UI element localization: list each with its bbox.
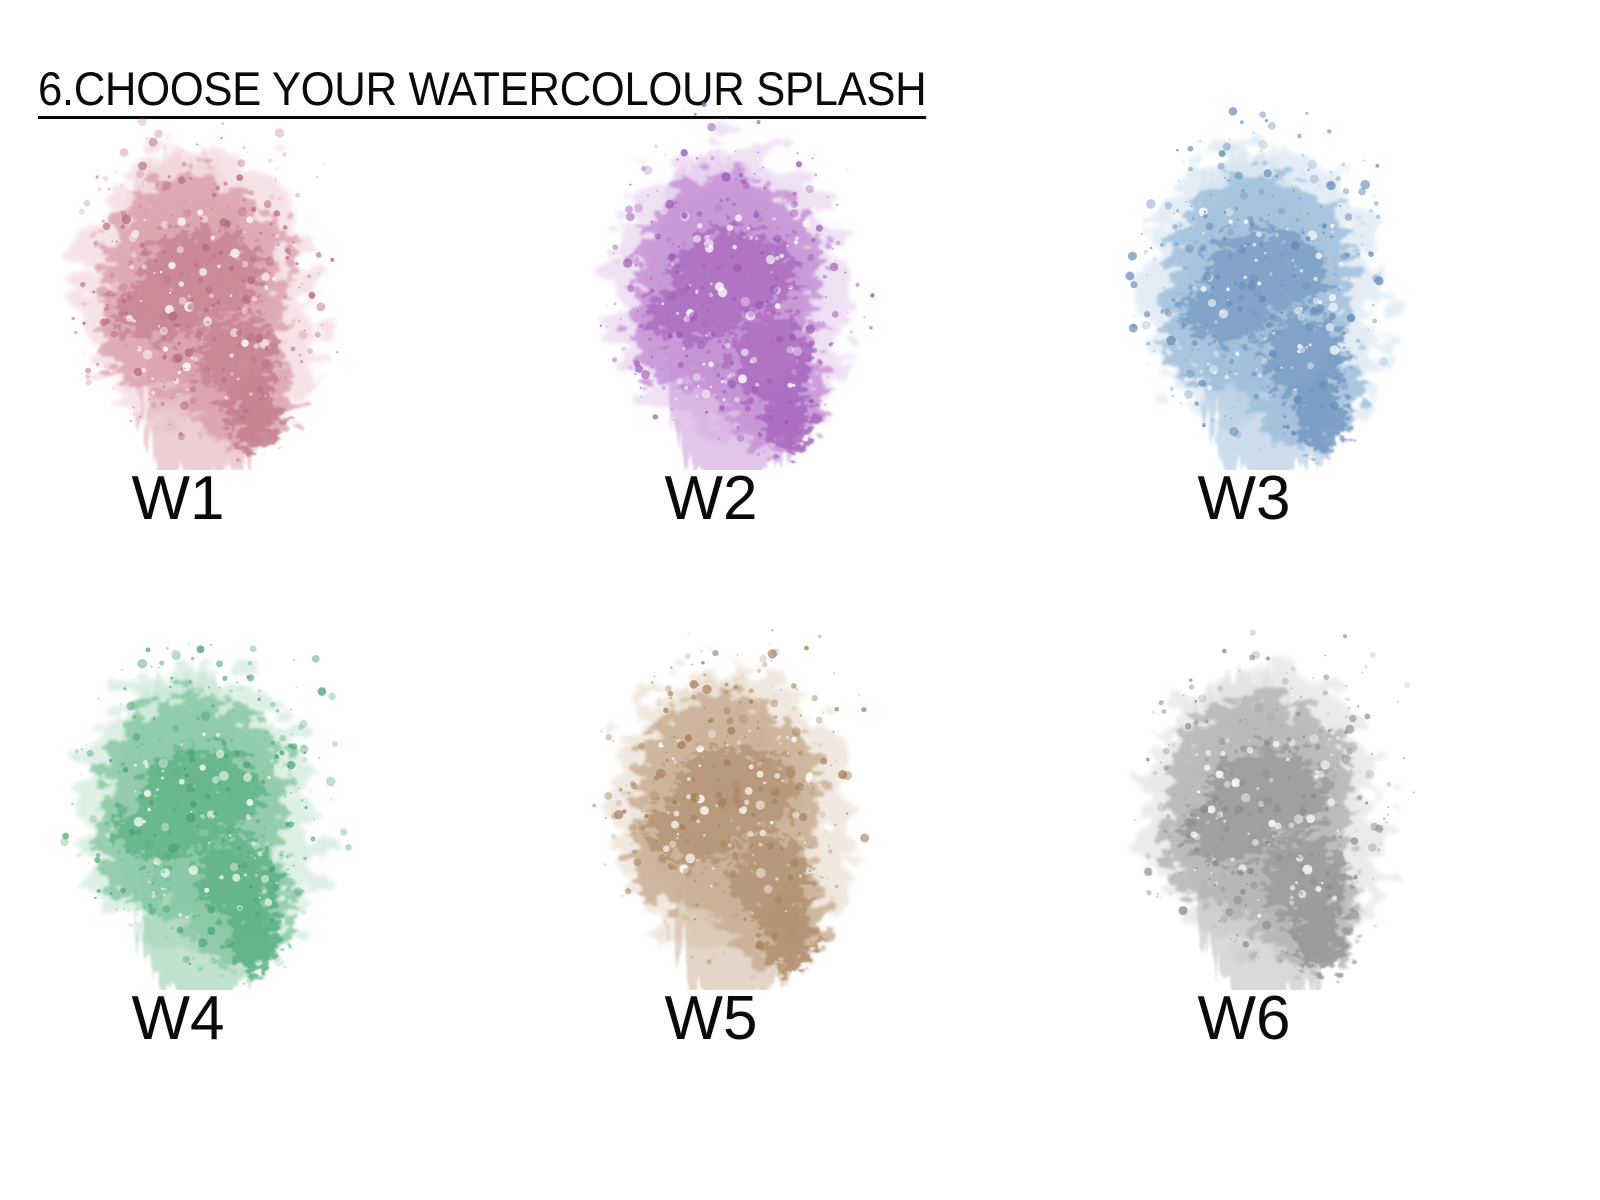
splash-artwork [33,100,353,470]
splash-w3[interactable] [1099,100,1419,470]
swatch-row: W1W2W3 [0,100,1600,620]
swatch-label: W5 [566,988,856,1050]
splash-w4[interactable] [33,620,353,990]
swatch-option-w5[interactable]: W5 [566,620,1066,1140]
splash-artwork [33,620,353,990]
swatch-option-w1[interactable]: W1 [33,100,533,620]
swatch-grid: W1W2W3W4W5W6 [0,100,1600,1140]
swatch-label: W1 [33,468,323,530]
splash-w5[interactable] [566,620,886,990]
swatch-option-w4[interactable]: W4 [33,620,533,1140]
swatch-option-w3[interactable]: W3 [1099,100,1599,620]
swatch-label: W2 [566,468,856,530]
splash-artwork [1099,620,1419,990]
splash-artwork [566,620,886,990]
splash-w6[interactable] [1099,620,1419,990]
splash-artwork [566,100,886,470]
splash-w2[interactable] [566,100,886,470]
swatch-label: W3 [1099,468,1389,530]
swatch-option-w6[interactable]: W6 [1099,620,1599,1140]
splash-w1[interactable] [33,100,353,470]
swatch-label: W6 [1099,988,1389,1050]
watercolour-splash-selection-page: 6.CHOOSE YOUR WATERCOLOUR SPLASH W1W2W3W… [0,0,1600,1200]
swatch-option-w2[interactable]: W2 [566,100,1066,620]
splash-artwork [1099,100,1419,470]
swatch-row: W4W5W6 [0,620,1600,1140]
swatch-label: W4 [33,988,323,1050]
